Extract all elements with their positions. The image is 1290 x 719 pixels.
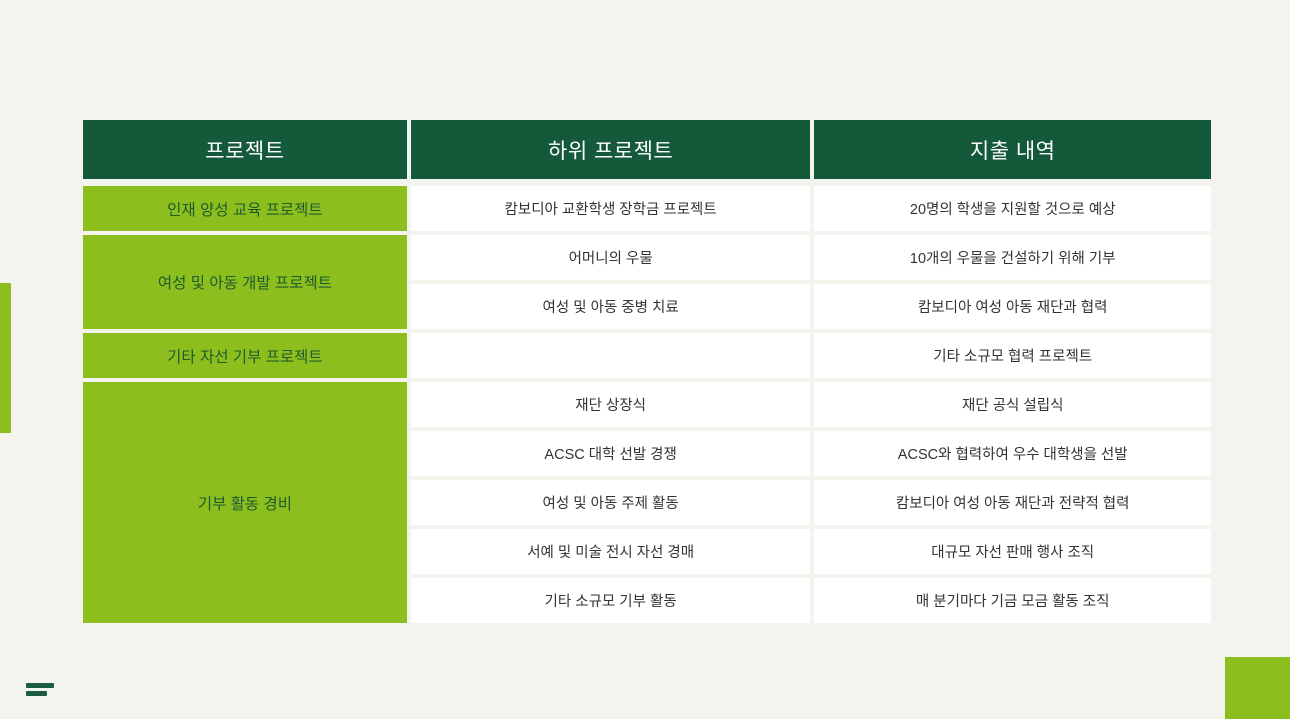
expenditure-detail-cell: 재단 공식 설립식 — [814, 382, 1211, 427]
expenditure-detail-cell: 기타 소규모 협력 프로젝트 — [814, 333, 1211, 378]
project-group-cell: 기타 자선 기부 프로젝트 — [83, 333, 407, 378]
expenditure-detail-cell: 20명의 학생을 지원할 것으로 예상 — [814, 186, 1211, 231]
table-body: 인재 양성 교육 프로젝트여성 및 아동 개발 프로젝트기타 자선 기부 프로젝… — [83, 186, 1211, 623]
expenditure-detail-cell: 캄보디아 여성 아동 재단과 전략적 협력 — [814, 480, 1211, 525]
project-group-cell: 기부 활동 경비 — [83, 382, 407, 623]
sub-project-cell: 여성 및 아동 중병 치료 — [411, 284, 811, 329]
expenditure-detail-cell: 10개의 우물을 건설하기 위해 기부 — [814, 235, 1211, 280]
sub-project-cell: 여성 및 아동 주제 활동 — [411, 480, 811, 525]
project-expenditure-table: 프로젝트 하위 프로젝트 지출 내역 인재 양성 교육 프로젝트여성 및 아동 … — [83, 120, 1211, 623]
table-header-row: 프로젝트 하위 프로젝트 지출 내역 — [83, 120, 1211, 179]
expenditure-detail-cell: 캄보디아 여성 아동 재단과 협력 — [814, 284, 1211, 329]
sub-project-cell: 재단 상장식 — [411, 382, 811, 427]
expenditure-detail-cell: ACSC와 협력하여 우수 대학생을 선발 — [814, 431, 1211, 476]
column-expenditure-details: 20명의 학생을 지원할 것으로 예상10개의 우물을 건설하기 위해 기부캄보… — [814, 186, 1211, 623]
sub-project-cell — [411, 333, 811, 378]
expenditure-detail-cell: 매 분기마다 기금 모금 활동 조직 — [814, 578, 1211, 623]
logo-mark — [26, 683, 54, 699]
left-accent-bar — [0, 283, 11, 433]
sub-project-cell: ACSC 대학 선발 경쟁 — [411, 431, 811, 476]
column-header-sub-project: 하위 프로젝트 — [411, 120, 811, 179]
column-project: 인재 양성 교육 프로젝트여성 및 아동 개발 프로젝트기타 자선 기부 프로젝… — [83, 186, 407, 623]
column-sub-project: 캄보디아 교환학생 장학금 프로젝트어머니의 우물여성 및 아동 중병 치료재단… — [411, 186, 811, 623]
column-header-project: 프로젝트 — [83, 120, 407, 179]
logo-bar-top — [26, 683, 54, 688]
column-header-expenditure-details: 지출 내역 — [814, 120, 1211, 179]
logo-bar-bottom — [26, 691, 47, 696]
sub-project-cell: 서예 및 미술 전시 자선 경매 — [411, 529, 811, 574]
sub-project-cell: 캄보디아 교환학생 장학금 프로젝트 — [411, 186, 811, 231]
corner-accent-block — [1225, 657, 1290, 719]
sub-project-cell: 어머니의 우물 — [411, 235, 811, 280]
expenditure-detail-cell: 대규모 자선 판매 행사 조직 — [814, 529, 1211, 574]
project-group-cell: 인재 양성 교육 프로젝트 — [83, 186, 407, 231]
sub-project-cell: 기타 소규모 기부 활동 — [411, 578, 811, 623]
project-group-cell: 여성 및 아동 개발 프로젝트 — [83, 235, 407, 329]
